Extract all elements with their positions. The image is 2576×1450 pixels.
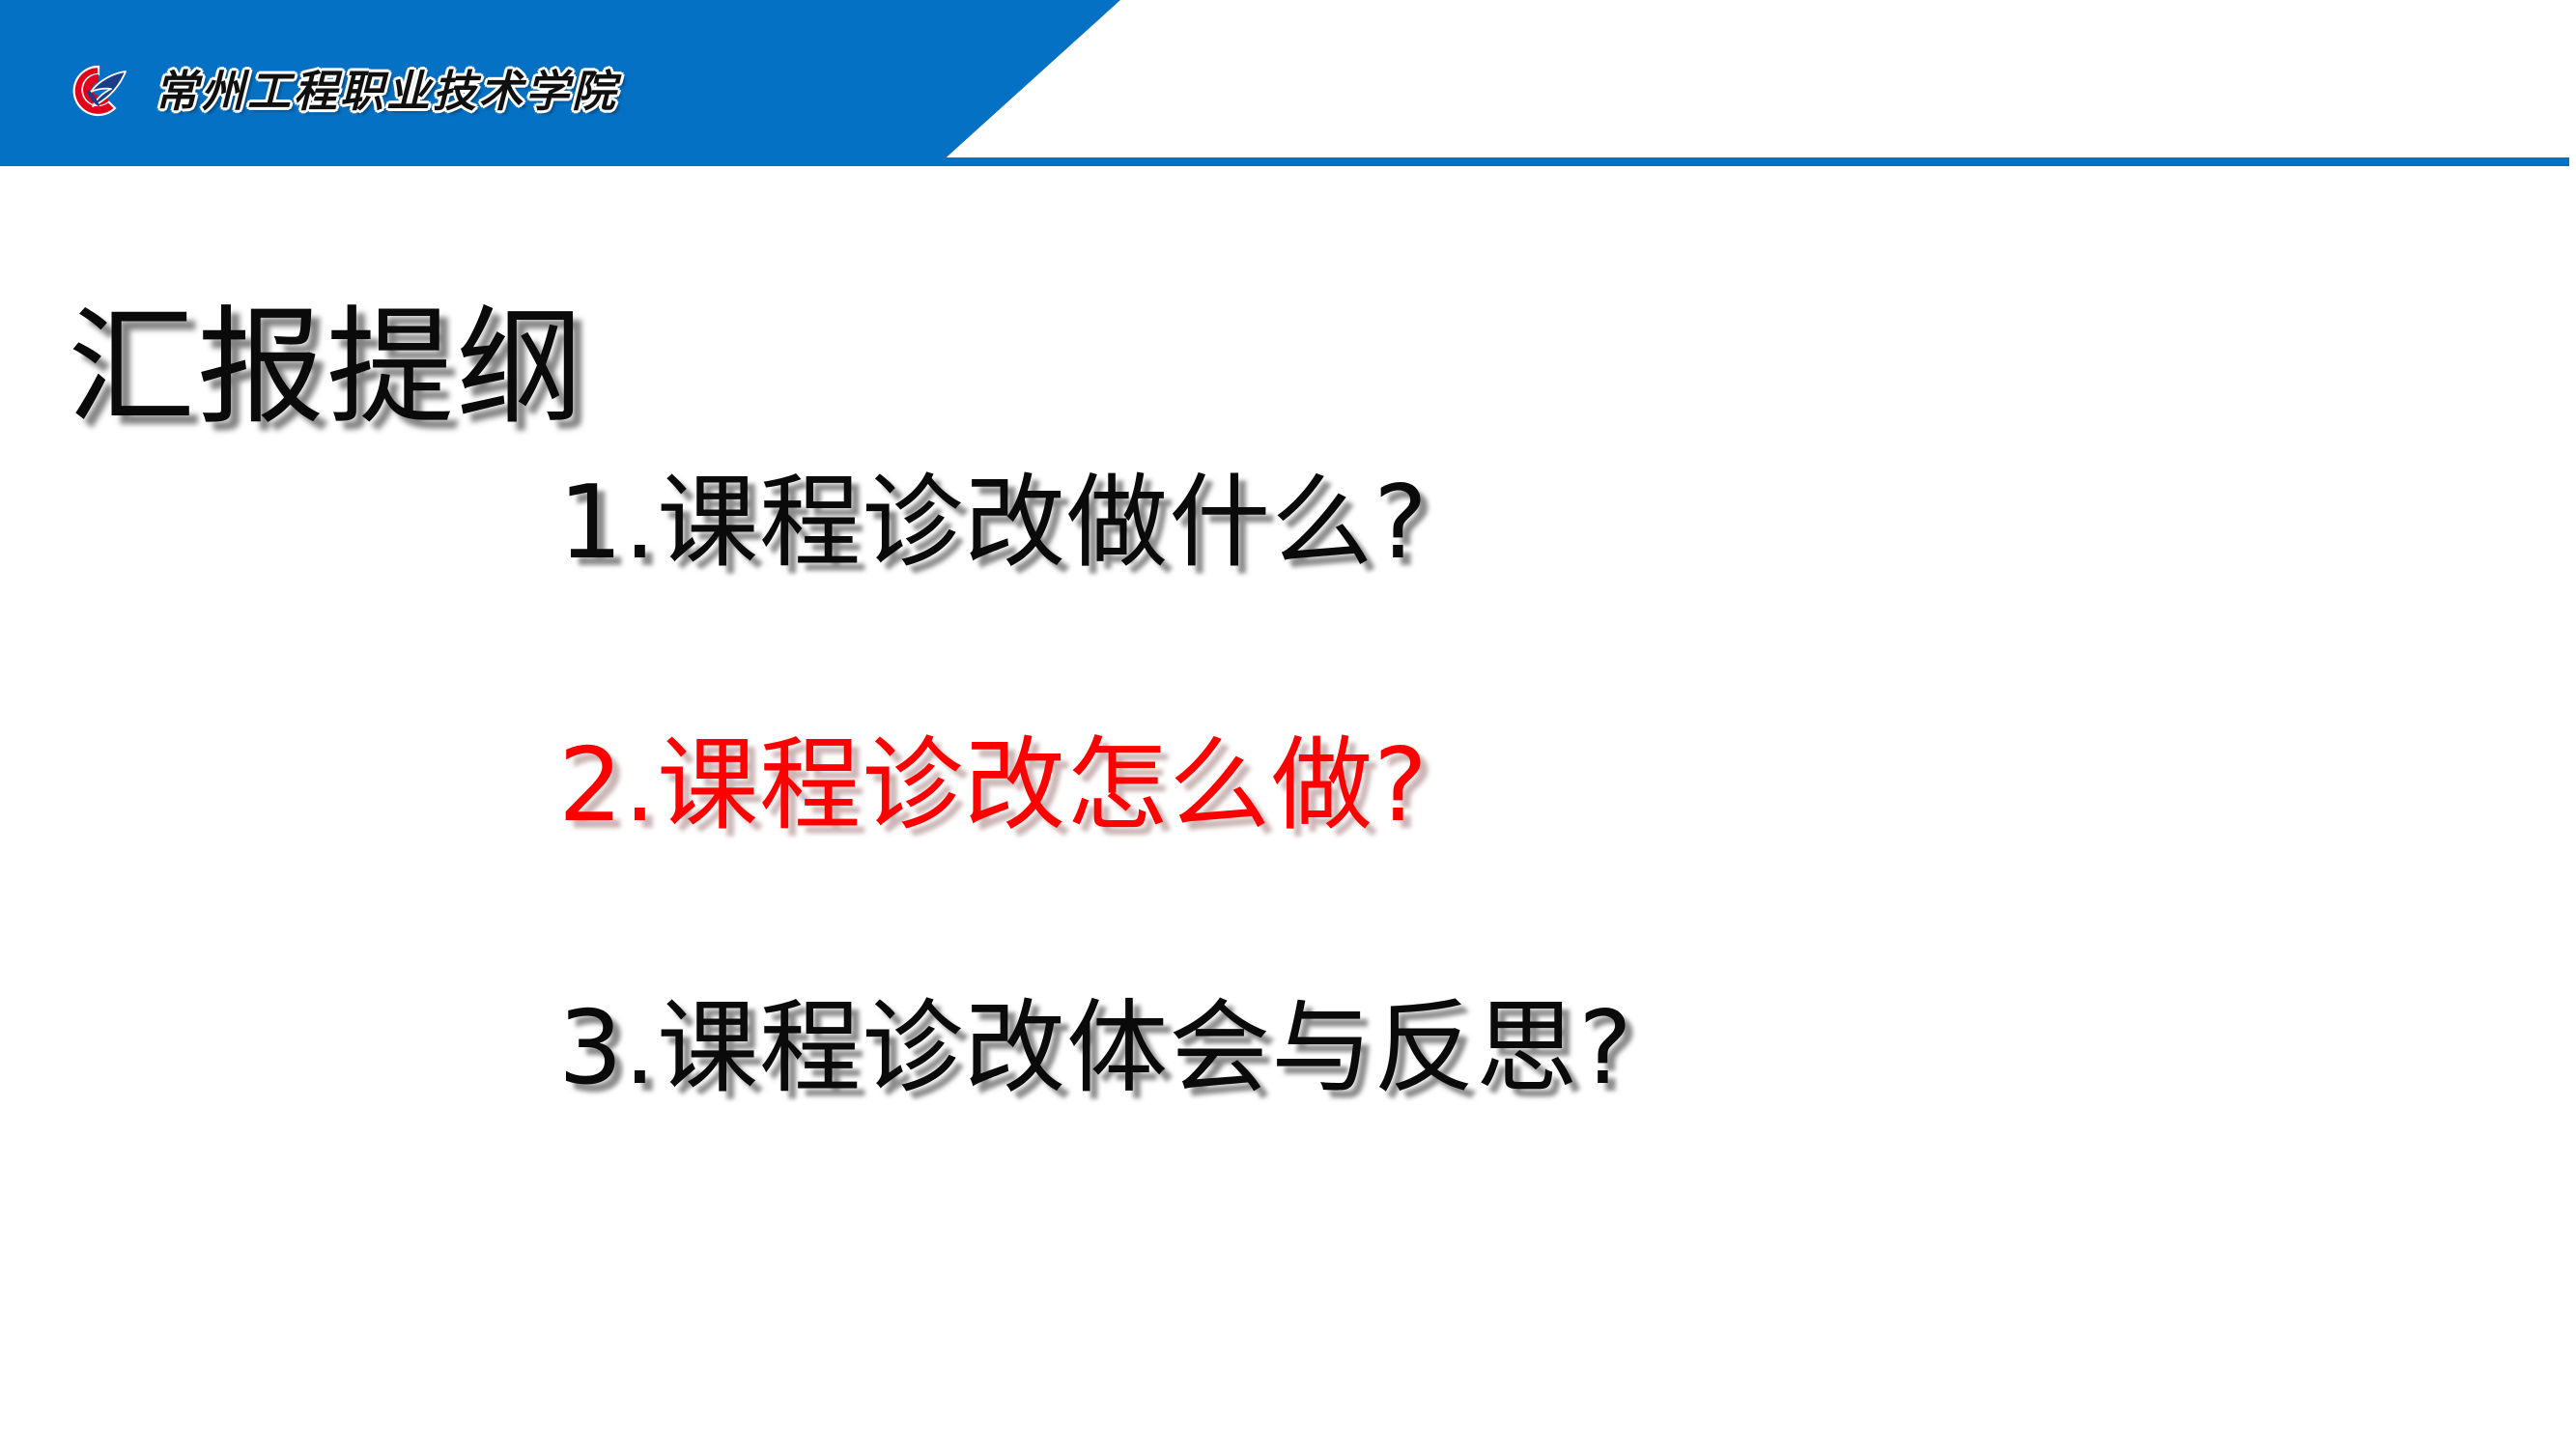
changzhou-institute-emblem-icon [70,63,129,119]
outline-list: 1.课程诊改做什么? 2.课程诊改怎么做? 3.课程诊改体会与反思? [558,464,1633,1109]
institution-logo: 常州工程职业技术学院 [70,60,618,122]
page-title: 汇报提纲 [68,296,585,442]
header-divider-rule [906,157,2569,166]
outline-item-3[interactable]: 3.课程诊改体会与反思? [558,989,1633,1109]
presentation-slide: 常州工程职业技术学院 汇报提纲 1.课程诊改做什么? 2.课程诊改怎么做? 3.… [0,0,2576,1450]
outline-item-1[interactable]: 1.课程诊改做什么? [558,464,1633,583]
institution-wordmark: 常州工程职业技术学院 [155,70,618,113]
outline-item-2[interactable]: 2.课程诊改怎么做? [558,726,1633,846]
